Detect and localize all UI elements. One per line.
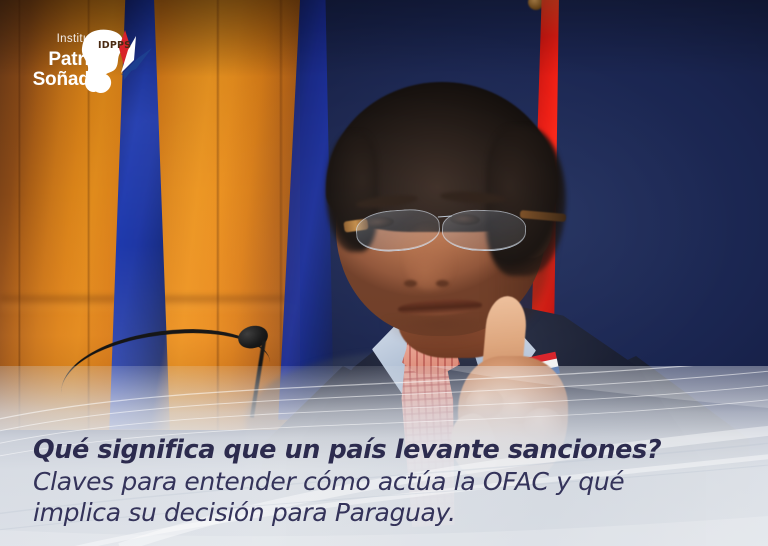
eyeglass-lens-left (355, 207, 442, 254)
headline-title: Qué significa que un país levante sancio… (33, 435, 673, 466)
nostril-right (436, 280, 449, 287)
news-banner: Instituto Patria Soñada IDPPS (0, 0, 768, 546)
eyeglass-temple-right (520, 210, 567, 222)
knuckle-3 (524, 408, 562, 438)
headline-subtitle-line-2: implica su decisión para Paraguay. (33, 497, 673, 528)
eyeglasses (334, 198, 560, 262)
nostril-left (404, 280, 417, 287)
emblem-label: IDPPS (98, 40, 131, 51)
headline-subtitle-line-1: Claves para entender cómo actúa la OFAC … (33, 466, 673, 497)
headline-block: Qué significa que un país levante sancio… (33, 435, 673, 528)
paraguay-map-emblem-icon: IDPPS (76, 26, 154, 98)
brand-logo[interactable]: Instituto Patria Soñada IDPPS (16, 28, 156, 96)
eyeglass-lens-right (441, 209, 526, 253)
